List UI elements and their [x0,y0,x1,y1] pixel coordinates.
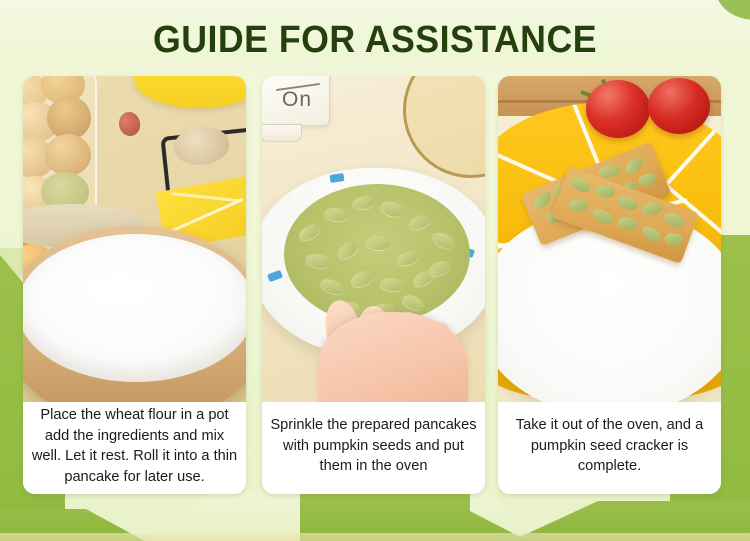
step-2-caption-text: Sprinkle the prepared pancakes with pump… [268,415,479,477]
step-3-caption: Take it out of the oven, and a pumpkin s… [498,402,721,494]
step-1-caption-text: Place the wheat flour in a pot add the i… [29,405,240,487]
step-card-1[interactable]: Place the wheat flour in a pot add the i… [23,76,246,494]
tomato-2 [648,78,710,134]
step-3-photo [498,76,721,402]
step-card-2[interactable]: On [262,76,485,494]
background-band-bottom-highlight [0,533,750,541]
step-2-caption: Sprinkle the prepared pancakes with pump… [262,402,485,494]
hand [318,312,468,402]
tomato-1 [586,80,650,138]
flour-mound [23,234,246,382]
step-1-caption: Place the wheat flour in a pot add the i… [23,402,246,494]
step-3-caption-text: Take it out of the oven, and a pumpkin s… [504,415,715,477]
poster-canvas: GUIDE FOR ASSISTANCE Place the wheat flo… [0,0,750,541]
step-card-3[interactable]: Take it out of the oven, and a pumpkin s… [498,76,721,494]
page-title: GUIDE FOR ASSISTANCE [23,18,728,62]
step-2-photo: On [262,76,485,402]
step-1-photo [23,76,246,402]
package-label-text: On [264,88,330,112]
package-clip [262,124,302,142]
